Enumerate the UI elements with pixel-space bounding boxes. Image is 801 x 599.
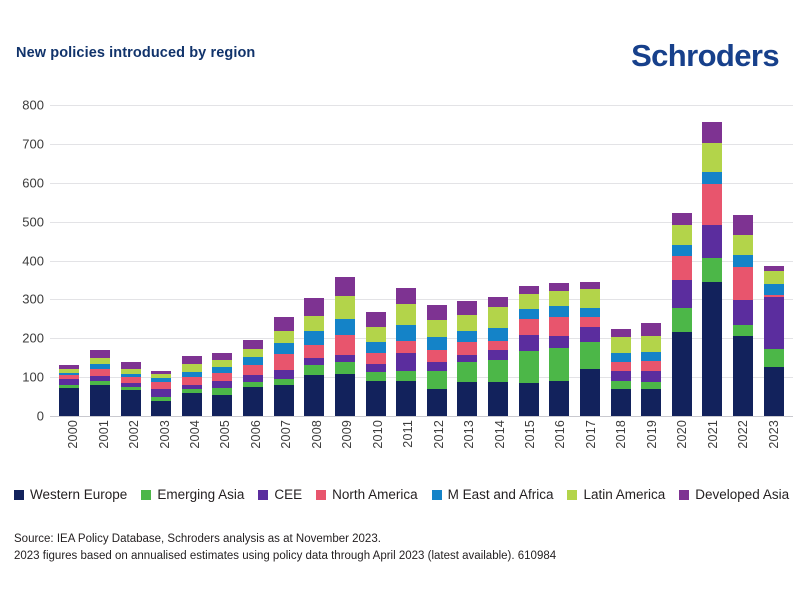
bar-segment-developed-asia-2016[interactable] xyxy=(549,283,569,291)
x-axis-label-2003: 2003 xyxy=(150,420,178,475)
bar-segment-north-america-2022[interactable] xyxy=(733,267,753,300)
schroders-logo: Schroders xyxy=(631,40,779,71)
stacked-bar-2005[interactable] xyxy=(212,353,232,416)
legend-label: Developed Asia xyxy=(695,487,789,502)
bar-segment-cee-2007[interactable] xyxy=(274,370,294,379)
bar-column-2014[interactable] xyxy=(484,105,513,416)
bar-segment-developed-asia-2010[interactable] xyxy=(366,312,386,327)
bar-segment-m-east-and-africa-2015[interactable] xyxy=(519,309,539,319)
bar-segment-m-east-and-africa-2006[interactable] xyxy=(243,357,263,365)
stacked-bar-2017[interactable] xyxy=(580,282,600,416)
bar-segment-latin-america-2020[interactable] xyxy=(672,225,692,245)
x-axis-label-2004: 2004 xyxy=(181,420,209,475)
x-axis-label-2023: 2023 xyxy=(759,420,787,475)
x-axis-labels: 2000200120022003200420052006200720082009… xyxy=(54,420,793,475)
stacked-bar-2008[interactable] xyxy=(304,298,324,416)
bar-segment-m-east-and-africa-2007[interactable] xyxy=(274,343,294,354)
footnote-line-2: 2023 figures based on annualised estimat… xyxy=(14,548,791,565)
bar-segment-developed-asia-2002[interactable] xyxy=(121,362,141,369)
bar-column-2001[interactable] xyxy=(86,105,115,416)
bar-segment-developed-asia-2020[interactable] xyxy=(672,213,692,225)
bar-segment-western-europe-2009[interactable] xyxy=(335,374,355,416)
bar-segment-latin-america-2012[interactable] xyxy=(427,320,447,337)
bar-column-2021[interactable] xyxy=(698,105,727,416)
bar-segment-western-europe-2012[interactable] xyxy=(427,389,447,416)
bar-segment-latin-america-2019[interactable] xyxy=(641,336,661,352)
bar-segment-cee-2021[interactable] xyxy=(702,225,722,258)
bar-segment-north-america-2020[interactable] xyxy=(672,256,692,280)
bar-segment-m-east-and-africa-2018[interactable] xyxy=(611,353,631,362)
bar-segment-emerging-asia-2012[interactable] xyxy=(427,371,447,388)
y-axis: 0100200300400500600700800 xyxy=(0,105,50,437)
bar-segment-m-east-and-africa-2017[interactable] xyxy=(580,308,600,317)
x-axis-label-2002: 2002 xyxy=(120,420,148,475)
y-axis-tick-600: 600 xyxy=(22,175,44,190)
bar-segment-latin-america-2005[interactable] xyxy=(212,360,232,367)
bar-segment-emerging-asia-2008[interactable] xyxy=(304,365,324,375)
bar-column-2002[interactable] xyxy=(116,105,145,416)
bar-segment-latin-america-2021[interactable] xyxy=(702,143,722,172)
bar-segment-emerging-asia-2009[interactable] xyxy=(335,362,355,374)
bar-segment-emerging-asia-2020[interactable] xyxy=(672,308,692,332)
bar-column-2017[interactable] xyxy=(576,105,605,416)
bar-segment-latin-america-2014[interactable] xyxy=(488,307,508,328)
bar-series-container xyxy=(50,105,793,416)
bar-segment-western-europe-2013[interactable] xyxy=(457,382,477,416)
bar-segment-developed-asia-2022[interactable] xyxy=(733,215,753,235)
bar-segment-m-east-and-africa-2022[interactable] xyxy=(733,255,753,267)
bar-segment-western-europe-2003[interactable] xyxy=(151,401,171,416)
bar-segment-north-america-2010[interactable] xyxy=(366,353,386,364)
bar-segment-north-america-2021[interactable] xyxy=(702,184,722,225)
bar-segment-north-america-2016[interactable] xyxy=(549,317,569,336)
bar-segment-latin-america-2015[interactable] xyxy=(519,294,539,309)
bar-segment-developed-asia-2013[interactable] xyxy=(457,301,477,315)
stacked-bar-2002[interactable] xyxy=(121,362,141,416)
bar-segment-cee-2022[interactable] xyxy=(733,300,753,325)
stacked-bar-2023[interactable] xyxy=(764,266,784,416)
bar-segment-developed-asia-2019[interactable] xyxy=(641,323,661,335)
x-axis-label-2008: 2008 xyxy=(303,420,331,475)
x-axis-label-2018: 2018 xyxy=(607,420,635,475)
bar-segment-latin-america-2007[interactable] xyxy=(274,331,294,343)
legend-item-western-europe[interactable]: Western Europe xyxy=(14,487,127,502)
bar-segment-developed-asia-2018[interactable] xyxy=(611,329,631,338)
bar-segment-cee-2016[interactable] xyxy=(549,336,569,348)
legend-label: Latin America xyxy=(583,487,665,502)
y-axis-tick-200: 200 xyxy=(22,331,44,346)
bar-segment-developed-asia-2005[interactable] xyxy=(212,353,232,360)
bar-column-2013[interactable] xyxy=(453,105,482,416)
legend-swatch-icon xyxy=(258,490,268,500)
bar-segment-western-europe-2015[interactable] xyxy=(519,383,539,416)
x-axis-label-2014: 2014 xyxy=(485,420,513,475)
plot-area: 0100200300400500600700800 xyxy=(0,105,801,437)
bar-segment-western-europe-2000[interactable] xyxy=(59,388,79,416)
stacked-bar-2012[interactable] xyxy=(427,305,447,416)
bar-segment-western-europe-2014[interactable] xyxy=(488,382,508,416)
bar-segment-cee-2003[interactable] xyxy=(151,389,171,398)
x-axis-label-2013: 2013 xyxy=(455,420,483,475)
x-axis-label-2011: 2011 xyxy=(394,420,422,475)
bar-segment-emerging-asia-2011[interactable] xyxy=(396,371,416,381)
bar-segment-latin-america-2004[interactable] xyxy=(182,364,202,372)
bar-segment-cee-2008[interactable] xyxy=(304,358,324,365)
x-axis-label-2001: 2001 xyxy=(89,420,117,475)
bar-column-2005[interactable] xyxy=(208,105,237,416)
bar-segment-m-east-and-africa-2011[interactable] xyxy=(396,325,416,341)
legend-item-north-america[interactable]: North America xyxy=(316,487,418,502)
bar-segment-cee-2000[interactable] xyxy=(59,379,79,386)
top-margin xyxy=(0,0,801,12)
x-axis-label-2006: 2006 xyxy=(242,420,270,475)
bar-column-2018[interactable] xyxy=(606,105,635,416)
bar-segment-north-america-2006[interactable] xyxy=(243,365,263,375)
bar-segment-developed-asia-2008[interactable] xyxy=(304,298,324,316)
bar-segment-m-east-and-africa-2021[interactable] xyxy=(702,172,722,184)
bar-segment-north-america-2012[interactable] xyxy=(427,350,447,362)
stacked-bar-2010[interactable] xyxy=(366,312,386,416)
bar-column-2008[interactable] xyxy=(300,105,329,416)
bar-segment-developed-asia-2015[interactable] xyxy=(519,286,539,295)
legend-label: North America xyxy=(332,487,418,502)
legend-label: M East and Africa xyxy=(448,487,554,502)
bar-segment-north-america-2019[interactable] xyxy=(641,361,661,371)
legend-item-emerging-asia[interactable]: Emerging Asia xyxy=(141,487,244,502)
bar-column-2012[interactable] xyxy=(423,105,452,416)
stacked-bar-2000[interactable] xyxy=(59,365,79,416)
y-axis-tick-800: 800 xyxy=(22,98,44,113)
x-axis-label-2000: 2000 xyxy=(59,420,87,475)
bar-segment-western-europe-2002[interactable] xyxy=(121,390,141,416)
bar-segment-latin-america-2013[interactable] xyxy=(457,315,477,331)
chart-legend: Western EuropeEmerging AsiaCEENorth Amer… xyxy=(14,487,791,502)
x-axis-label-2016: 2016 xyxy=(546,420,574,475)
stacked-bar-2020[interactable] xyxy=(672,213,692,416)
bar-segment-north-america-2005[interactable] xyxy=(212,373,232,381)
bar-segment-north-america-2014[interactable] xyxy=(488,341,508,350)
bar-segment-western-europe-2005[interactable] xyxy=(212,395,232,416)
legend-swatch-icon xyxy=(432,490,442,500)
bar-segment-north-america-2011[interactable] xyxy=(396,341,416,353)
bar-segment-cee-2009[interactable] xyxy=(335,355,355,363)
bar-segment-cee-2006[interactable] xyxy=(243,375,263,382)
bar-segment-north-america-2015[interactable] xyxy=(519,319,539,335)
bar-segment-cee-2010[interactable] xyxy=(366,364,386,373)
bar-segment-emerging-asia-2014[interactable] xyxy=(488,360,508,381)
legend-item-m-east-and-africa[interactable]: M East and Africa xyxy=(432,487,554,502)
bar-segment-latin-america-2010[interactable] xyxy=(366,327,386,342)
bar-segment-latin-america-2017[interactable] xyxy=(580,289,600,308)
bar-column-2010[interactable] xyxy=(361,105,390,416)
bar-segment-emerging-asia-2019[interactable] xyxy=(641,382,661,389)
bar-segment-north-america-2009[interactable] xyxy=(335,335,355,354)
bar-segment-western-europe-2018[interactable] xyxy=(611,389,631,416)
bar-segment-cee-2011[interactable] xyxy=(396,353,416,371)
bar-segment-latin-america-2006[interactable] xyxy=(243,349,263,358)
bar-segment-m-east-and-africa-2010[interactable] xyxy=(366,342,386,353)
bar-segment-latin-america-2023[interactable] xyxy=(764,271,784,284)
legend-label: Western Europe xyxy=(30,487,127,502)
bar-segment-cee-2020[interactable] xyxy=(672,280,692,308)
gridline-0 xyxy=(50,416,793,417)
stacked-bar-2013[interactable] xyxy=(457,301,477,416)
legend-swatch-icon xyxy=(567,490,577,500)
bar-column-2020[interactable] xyxy=(668,105,697,416)
bar-segment-developed-asia-2011[interactable] xyxy=(396,288,416,304)
bar-segment-north-america-2004[interactable] xyxy=(182,377,202,384)
bar-segment-m-east-and-africa-2013[interactable] xyxy=(457,331,477,342)
bar-segment-m-east-and-africa-2016[interactable] xyxy=(549,306,569,318)
legend-label: Emerging Asia xyxy=(157,487,244,502)
y-axis-tick-400: 400 xyxy=(22,253,44,268)
y-axis-tick-0: 0 xyxy=(37,409,44,424)
bar-segment-emerging-asia-2016[interactable] xyxy=(549,348,569,381)
bar-segment-western-europe-2007[interactable] xyxy=(274,385,294,416)
chart-footnote: Source: IEA Policy Database, Schroders a… xyxy=(14,531,791,564)
x-axis-label-2022: 2022 xyxy=(729,420,757,475)
bar-column-2004[interactable] xyxy=(178,105,207,416)
stacked-bar-2001[interactable] xyxy=(90,350,110,416)
x-axis-label-2019: 2019 xyxy=(638,420,666,475)
bar-segment-developed-asia-2001[interactable] xyxy=(90,350,110,358)
stacked-bar-2009[interactable] xyxy=(335,277,355,416)
bar-segment-western-europe-2017[interactable] xyxy=(580,369,600,416)
x-axis-label-2009: 2009 xyxy=(333,420,361,475)
bar-segment-m-east-and-africa-2020[interactable] xyxy=(672,245,692,256)
stacked-bar-2018[interactable] xyxy=(611,329,631,416)
bar-segment-cee-2005[interactable] xyxy=(212,381,232,388)
bar-column-2016[interactable] xyxy=(545,105,574,416)
bar-segment-cee-2013[interactable] xyxy=(457,355,477,362)
bar-column-2007[interactable] xyxy=(269,105,298,416)
bar-segment-cee-2019[interactable] xyxy=(641,371,661,382)
bar-column-2011[interactable] xyxy=(392,105,421,416)
legend-swatch-icon xyxy=(14,490,24,500)
stacked-bar-2015[interactable] xyxy=(519,286,539,416)
bar-column-2009[interactable] xyxy=(331,105,360,416)
legend-swatch-icon xyxy=(316,490,326,500)
bar-column-2022[interactable] xyxy=(729,105,758,416)
stacked-bar-2004[interactable] xyxy=(182,356,202,416)
bar-segment-emerging-asia-2018[interactable] xyxy=(611,381,631,389)
y-axis-tick-300: 300 xyxy=(22,292,44,307)
x-axis-label-2012: 2012 xyxy=(424,420,452,475)
bar-segment-western-europe-2020[interactable] xyxy=(672,332,692,416)
bar-column-2003[interactable] xyxy=(147,105,176,416)
stacked-bar-2021[interactable] xyxy=(702,122,722,416)
bar-segment-developed-asia-2004[interactable] xyxy=(182,356,202,364)
bar-segment-north-america-2008[interactable] xyxy=(304,345,324,359)
bar-segment-latin-america-2009[interactable] xyxy=(335,296,355,319)
bar-segment-north-america-2013[interactable] xyxy=(457,342,477,356)
bar-segment-western-europe-2006[interactable] xyxy=(243,387,263,416)
legend-item-cee[interactable]: CEE xyxy=(258,487,302,502)
bar-segment-emerging-asia-2013[interactable] xyxy=(457,362,477,381)
bar-segment-western-europe-2004[interactable] xyxy=(182,393,202,416)
x-axis-label-2021: 2021 xyxy=(699,420,727,475)
bar-segment-emerging-asia-2023[interactable] xyxy=(764,349,784,368)
legend-swatch-icon xyxy=(141,490,151,500)
bar-segment-developed-asia-2017[interactable] xyxy=(580,282,600,289)
bar-segment-m-east-and-africa-2019[interactable] xyxy=(641,352,661,361)
bar-segment-north-america-2003[interactable] xyxy=(151,382,171,389)
bar-segment-m-east-and-africa-2009[interactable] xyxy=(335,319,355,335)
bar-segment-emerging-asia-2010[interactable] xyxy=(366,372,386,381)
bar-segment-western-europe-2023[interactable] xyxy=(764,367,784,416)
bar-segment-emerging-asia-2015[interactable] xyxy=(519,351,539,382)
bar-segment-western-europe-2010[interactable] xyxy=(366,381,386,416)
bar-segment-cee-2017[interactable] xyxy=(580,327,600,342)
x-axis-label-2010: 2010 xyxy=(364,420,392,475)
bar-column-2019[interactable] xyxy=(637,105,666,416)
x-axis-label-2020: 2020 xyxy=(668,420,696,475)
bar-segment-m-east-and-africa-2014[interactable] xyxy=(488,328,508,341)
bar-segment-western-europe-2019[interactable] xyxy=(641,389,661,416)
bar-segment-developed-asia-2012[interactable] xyxy=(427,305,447,320)
y-axis-tick-100: 100 xyxy=(22,370,44,385)
bar-segment-latin-america-2008[interactable] xyxy=(304,316,324,331)
legend-item-developed-asia[interactable]: Developed Asia xyxy=(679,487,789,502)
y-axis-tick-500: 500 xyxy=(22,214,44,229)
bar-segment-developed-asia-2007[interactable] xyxy=(274,317,294,332)
bar-column-2023[interactable] xyxy=(759,105,788,416)
bar-column-2000[interactable] xyxy=(55,105,84,416)
legend-swatch-icon xyxy=(679,490,689,500)
page-title: New policies introduced by region xyxy=(16,45,255,61)
stacked-bar-2014[interactable] xyxy=(488,297,508,416)
bar-segment-cee-2014[interactable] xyxy=(488,350,508,361)
bar-segment-western-europe-2001[interactable] xyxy=(90,385,110,416)
bar-segment-north-america-2018[interactable] xyxy=(611,362,631,371)
bar-segment-cee-2012[interactable] xyxy=(427,362,447,371)
legend-item-latin-america[interactable]: Latin America xyxy=(567,487,665,502)
bar-segment-m-east-and-africa-2012[interactable] xyxy=(427,337,447,351)
bar-segment-cee-2015[interactable] xyxy=(519,335,539,351)
bar-segment-latin-america-2011[interactable] xyxy=(396,304,416,325)
bar-segment-m-east-and-africa-2023[interactable] xyxy=(764,284,784,295)
bar-segment-western-europe-2016[interactable] xyxy=(549,381,569,416)
bar-segment-emerging-asia-2017[interactable] xyxy=(580,342,600,369)
stacked-bar-2016[interactable] xyxy=(549,283,569,416)
gridlines-and-bars xyxy=(50,105,793,437)
legend-label: CEE xyxy=(274,487,302,502)
x-axis-label-2005: 2005 xyxy=(211,420,239,475)
bar-column-2006[interactable] xyxy=(239,105,268,416)
y-axis-tick-700: 700 xyxy=(22,136,44,151)
bar-segment-developed-asia-2014[interactable] xyxy=(488,297,508,307)
bar-segment-m-east-and-africa-2008[interactable] xyxy=(304,331,324,345)
bar-segment-western-europe-2011[interactable] xyxy=(396,381,416,416)
bar-segment-western-europe-2021[interactable] xyxy=(702,282,722,416)
stacked-bar-2007[interactable] xyxy=(274,317,294,416)
bar-segment-developed-asia-2006[interactable] xyxy=(243,340,263,349)
bar-segment-north-america-2017[interactable] xyxy=(580,317,600,327)
bar-segment-latin-america-2016[interactable] xyxy=(549,291,569,306)
bar-segment-cee-2023[interactable] xyxy=(764,297,784,348)
bar-segment-developed-asia-2021[interactable] xyxy=(702,122,722,143)
bar-segment-cee-2018[interactable] xyxy=(611,371,631,381)
stacked-bar-2003[interactable] xyxy=(151,371,171,416)
bar-segment-western-europe-2022[interactable] xyxy=(733,336,753,416)
bar-column-2015[interactable] xyxy=(514,105,543,416)
bar-segment-latin-america-2018[interactable] xyxy=(611,337,631,353)
bar-segment-developed-asia-2009[interactable] xyxy=(335,277,355,296)
bar-segment-latin-america-2022[interactable] xyxy=(733,235,753,254)
stacked-bar-2019[interactable] xyxy=(641,323,661,416)
bar-segment-western-europe-2008[interactable] xyxy=(304,375,324,416)
bar-segment-emerging-asia-2021[interactable] xyxy=(702,258,722,282)
bar-segment-north-america-2007[interactable] xyxy=(274,354,294,370)
chart-page: New policies introduced by region Schrod… xyxy=(0,0,801,599)
x-axis-label-2017: 2017 xyxy=(577,420,605,475)
stacked-bar-2022[interactable] xyxy=(733,215,753,416)
stacked-bar-2011[interactable] xyxy=(396,288,416,416)
footnote-line-1: Source: IEA Policy Database, Schroders a… xyxy=(14,531,791,548)
x-axis-label-2007: 2007 xyxy=(272,420,300,475)
stacked-bar-2006[interactable] xyxy=(243,340,263,416)
bar-segment-emerging-asia-2022[interactable] xyxy=(733,325,753,336)
x-axis-label-2015: 2015 xyxy=(516,420,544,475)
bar-segment-emerging-asia-2005[interactable] xyxy=(212,388,232,395)
